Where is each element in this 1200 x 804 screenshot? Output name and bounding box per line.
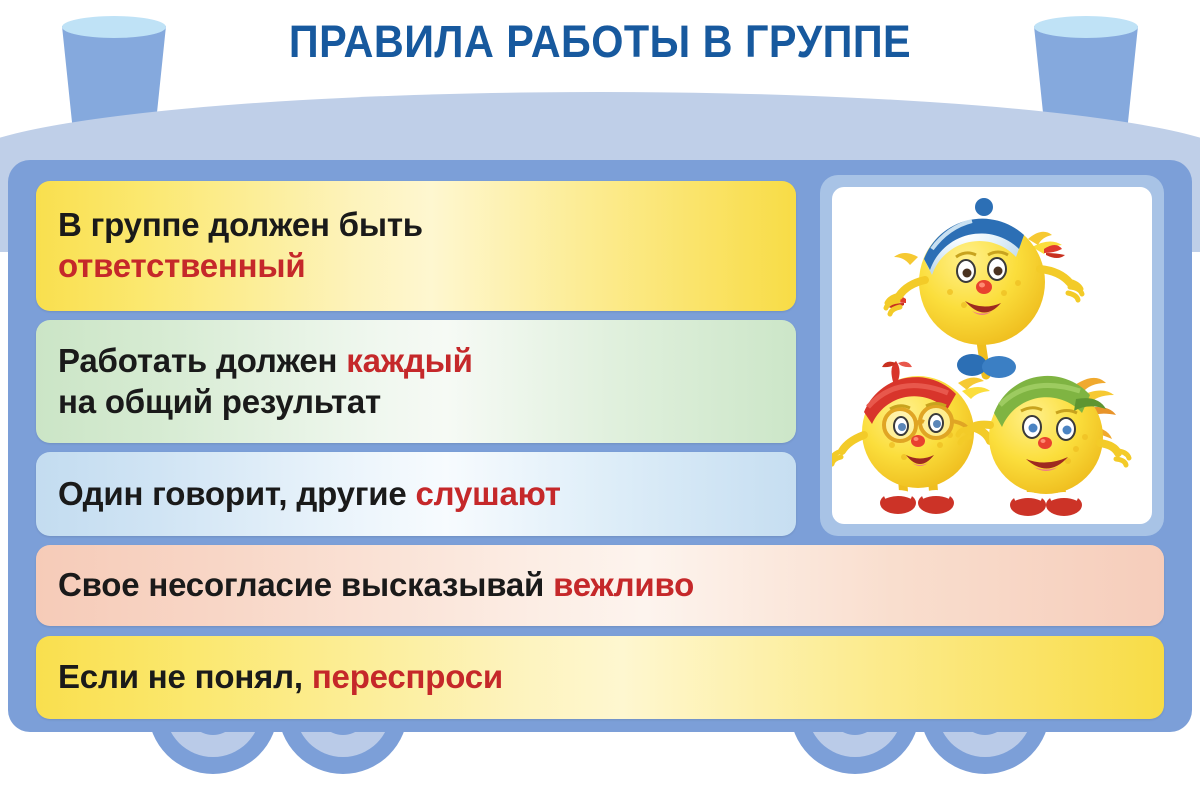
rule-line: Свое несогласие высказывай вежливо (58, 565, 1164, 606)
illustration-panel (832, 187, 1152, 524)
rule-highlight: вежливо (553, 566, 694, 603)
rule-line: Один говорит, другие слушают (58, 474, 796, 515)
illustration-frame (820, 175, 1164, 536)
rule-line: В группе должен быть (58, 205, 796, 246)
rule-card-responsible[interactable]: В группе должен быть ответственный (36, 181, 796, 311)
rule-highlight: слушают (416, 475, 561, 512)
rule-card-everyone-works[interactable]: Работать должен каждый на общий результа… (36, 320, 796, 443)
rule-text: Один говорит, другие (58, 475, 416, 512)
rule-line: ответственный (58, 246, 796, 287)
rule-text: Если не понял, (58, 658, 312, 695)
rule-line: Работать должен каждый (58, 341, 796, 382)
three-smiley-characters-image (832, 187, 1152, 524)
page-title: ПРАВИЛА РАБОТЫ В ГРУППЕ (48, 16, 1152, 68)
rule-highlight: переспроси (312, 658, 503, 695)
rule-line: на общий результат (58, 382, 796, 423)
rule-highlight: каждый (346, 342, 472, 379)
rule-card-polite-disagree[interactable]: Свое несогласие высказывай вежливо (36, 545, 1164, 626)
rule-card-ask-again[interactable]: Если не понял, переспроси (36, 636, 1164, 719)
rule-highlight: ответственный (58, 247, 305, 284)
rule-text: Свое несогласие высказывай (58, 566, 553, 603)
rule-text: Работать должен (58, 342, 346, 379)
rule-card-one-speaks[interactable]: Один говорит, другие слушают (36, 452, 796, 536)
rule-text: В группе должен быть (58, 206, 423, 243)
rule-line: Если не понял, переспроси (58, 657, 1164, 698)
smiley-green-hat (958, 376, 1129, 516)
poster-canvas: ПРАВИЛА РАБОТЫ В ГРУППЕ В группе должен … (0, 0, 1200, 804)
rule-text: на общий результат (58, 383, 381, 420)
smiley-blue-hat (885, 198, 1082, 378)
